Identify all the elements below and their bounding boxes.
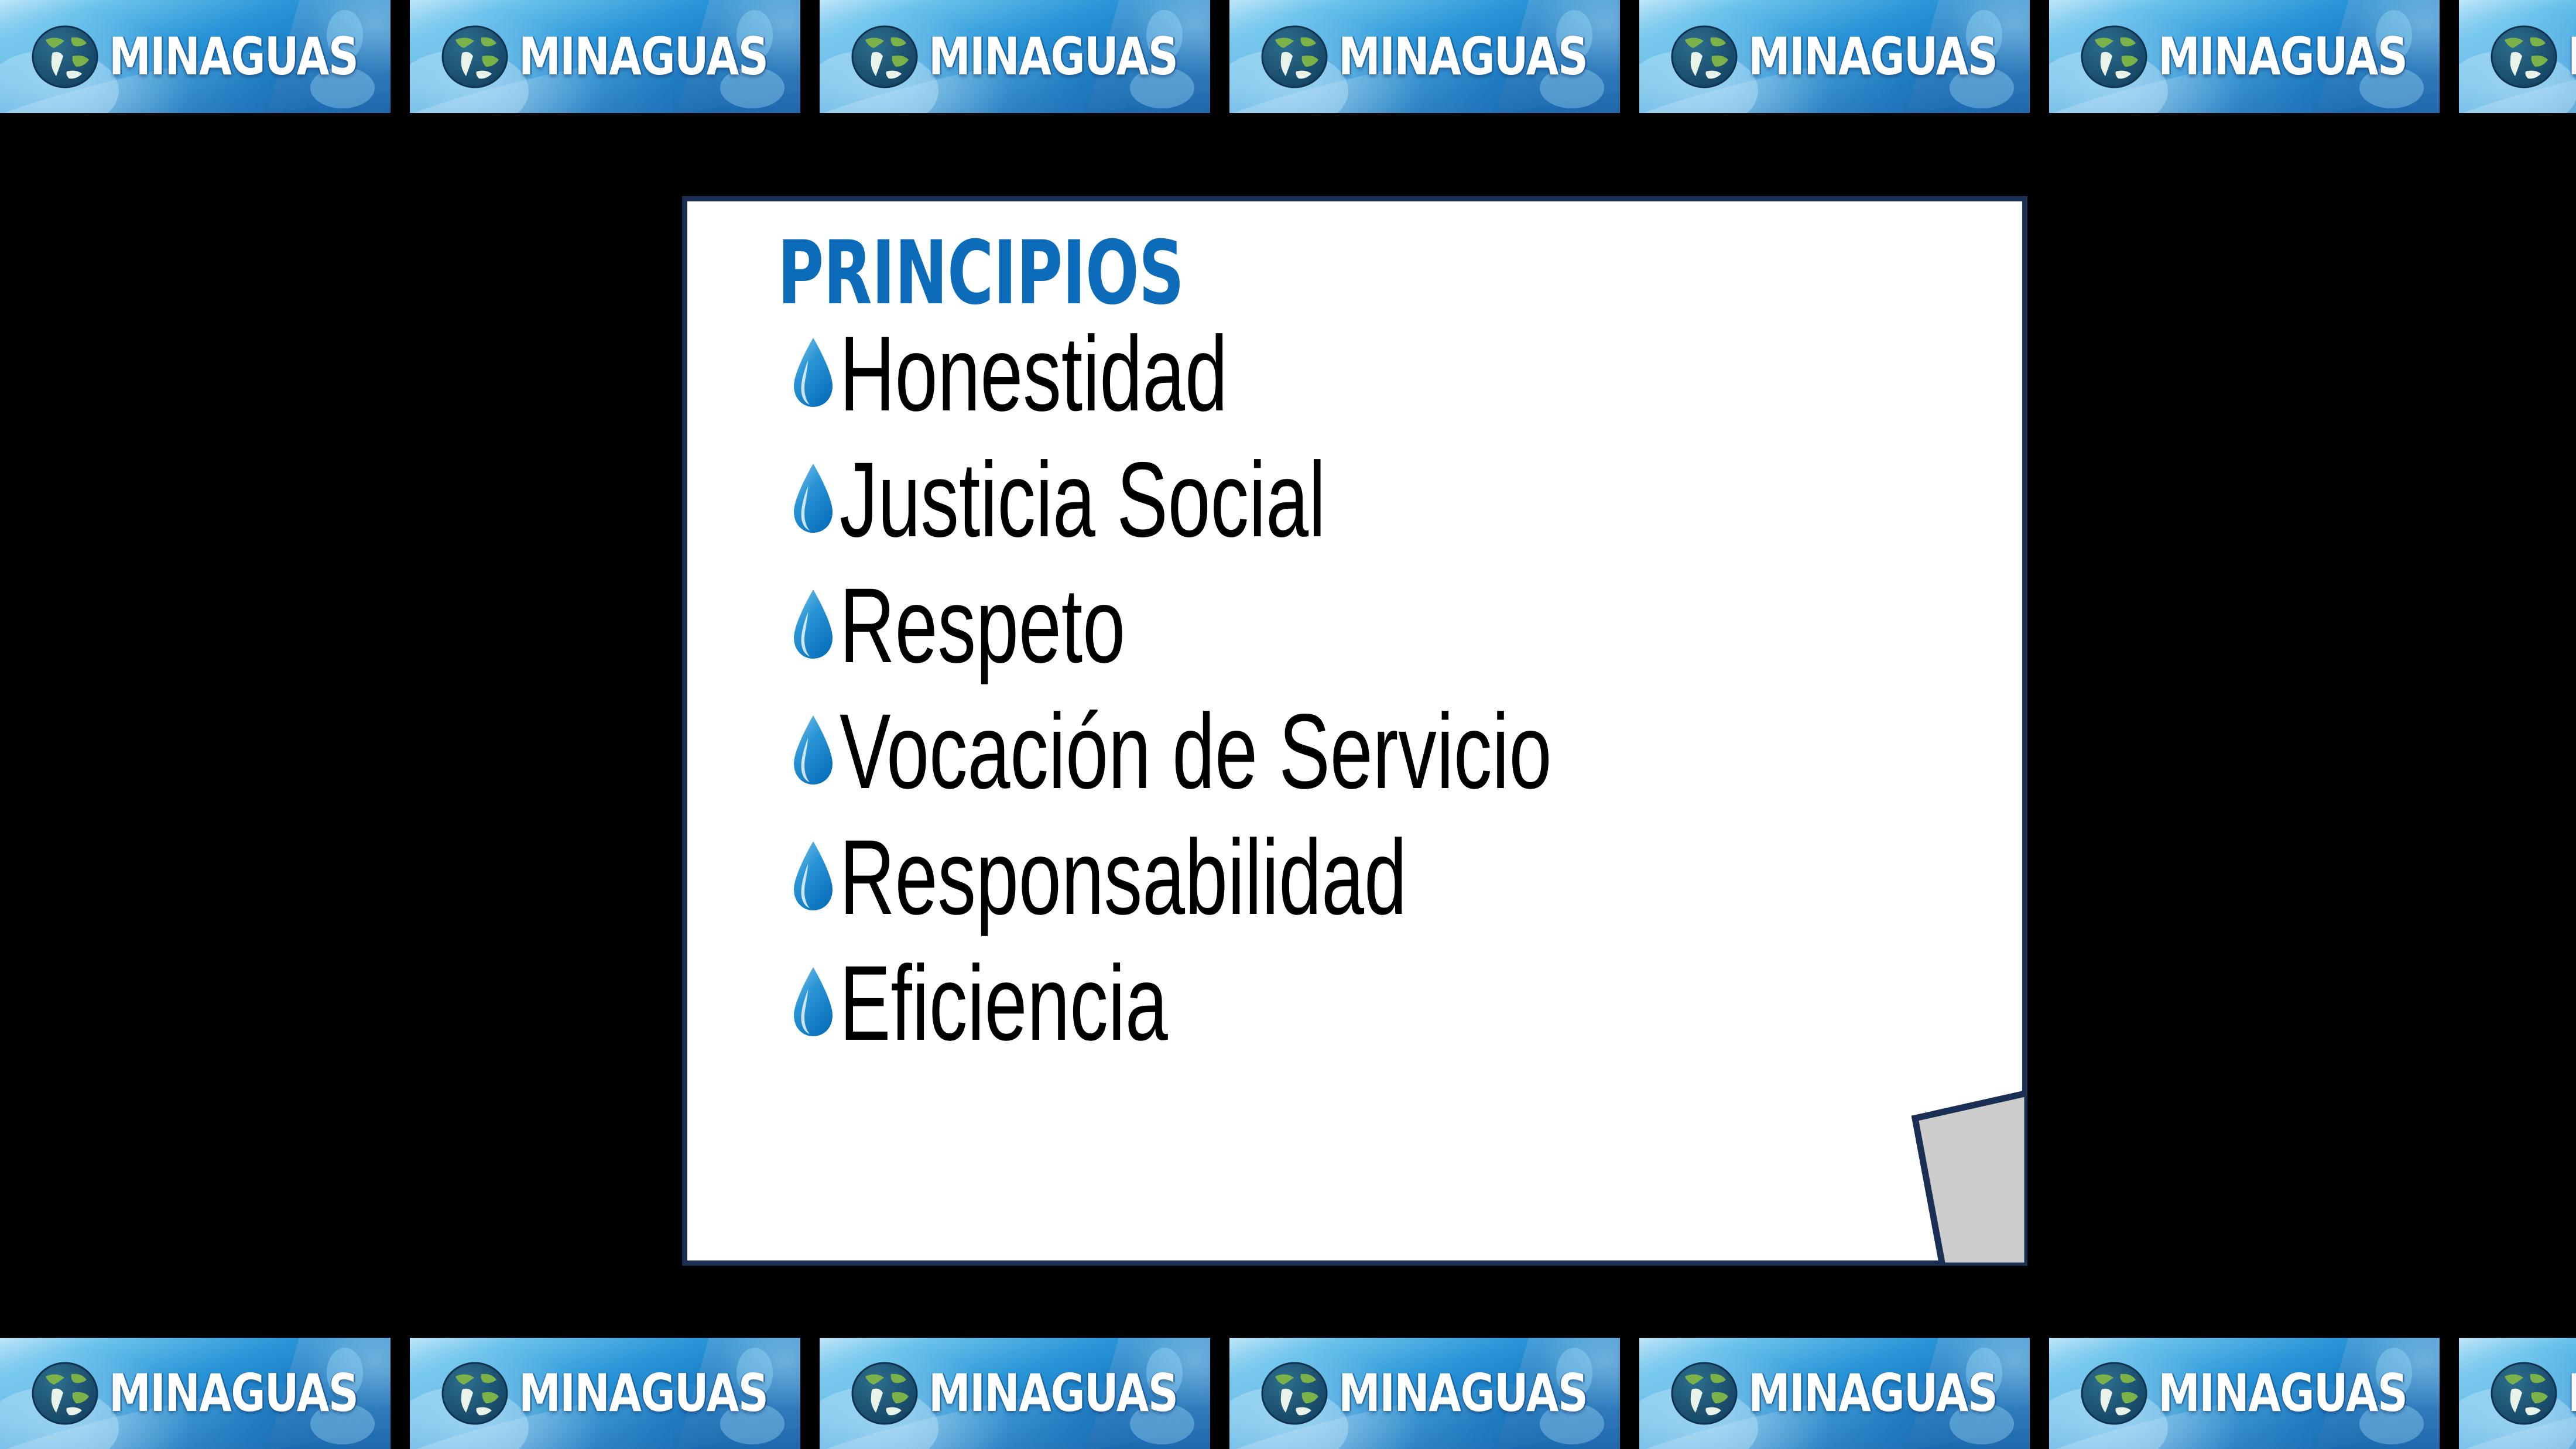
minaguas-logo: MINAGUAS — [2080, 22, 2440, 91]
logo-tile: MINAGUAS — [0, 1338, 390, 1449]
water-drop-icon — [790, 460, 836, 538]
globe-icon — [1260, 22, 1329, 91]
principios-card: PRINCIPIOS HonestidadJusticia SocialResp… — [682, 196, 2027, 1266]
minaguas-wordmark: MINAGUAS — [109, 1369, 358, 1418]
minaguas-logo: MINAGUAS — [850, 1359, 1210, 1428]
minaguas-logo: MINAGUAS — [1260, 1359, 1620, 1428]
minaguas-wordmark: MINAGUAS — [929, 1369, 1177, 1418]
globe-icon — [30, 1359, 100, 1428]
minaguas-logo: MINAGUAS — [1670, 22, 2030, 91]
logo-tile: MINAGUAS — [820, 0, 1210, 113]
globe-icon — [850, 22, 919, 91]
minaguas-logo: MINAGUAS — [30, 22, 390, 91]
list-item: Vocación de Servicio — [790, 688, 2022, 814]
minaguas-logo: MINAGUAS — [850, 22, 1210, 91]
minaguas-wordmark: MINAGUAS — [1338, 1369, 1587, 1418]
minaguas-logo: MINAGUAS — [1260, 22, 1620, 91]
minaguas-wordmark: MINAGUAS — [929, 32, 1177, 81]
logo-tile: MINAGUAS — [1229, 1338, 1620, 1449]
logo-tile: MINAGUAS — [2049, 1338, 2440, 1449]
logo-tile: MINAGUAS — [820, 1338, 1210, 1449]
minaguas-wordmark: MINAGUAS — [2158, 32, 2407, 81]
water-drop-icon — [790, 334, 836, 412]
minaguas-logo: MINAGUAS — [30, 1359, 390, 1428]
minaguas-logo: MINAGUAS — [2489, 1359, 2576, 1428]
list-item-label: Vocación de Servicio — [840, 698, 1551, 804]
globe-icon — [1670, 1359, 1739, 1428]
minaguas-logo: MINAGUAS — [440, 1359, 800, 1428]
minaguas-wordmark: MINAGUAS — [519, 32, 768, 81]
logo-tile: MINAGUAS — [1639, 0, 2030, 113]
list-item: Honestidad — [790, 310, 2022, 436]
globe-icon — [2489, 1359, 2558, 1428]
minaguas-wordmark: MINAGUAS — [1748, 32, 1997, 81]
globe-icon — [2080, 22, 2149, 91]
list-item-label: Respeto — [840, 572, 1125, 679]
list-item: Eficiencia — [790, 940, 2022, 1066]
bottom-logo-band: MINAGUASMINAGUASMINAGUASMINAGUASMINAGUAS… — [0, 1338, 2576, 1449]
logo-tile: MINAGUAS — [410, 1338, 800, 1449]
minaguas-wordmark: MINAGUAS — [109, 32, 358, 81]
globe-icon — [1260, 1359, 1329, 1428]
minaguas-wordmark: MINAGUAS — [2568, 32, 2576, 81]
minaguas-wordmark: MINAGUAS — [1338, 32, 1587, 81]
list-item-label: Honestidad — [840, 320, 1228, 427]
list-item-label: Eficiencia — [840, 950, 1168, 1056]
logo-tile: MINAGUAS — [1229, 0, 1620, 113]
page-title: PRINCIPIOS — [777, 229, 1674, 317]
logo-tile: MINAGUAS — [2049, 0, 2440, 113]
logo-tile: MINAGUAS — [410, 0, 800, 113]
principles-list: HonestidadJusticia SocialRespetoVocación… — [780, 310, 2022, 1066]
globe-icon — [30, 22, 100, 91]
globe-icon — [2080, 1359, 2149, 1428]
logo-tile: MINAGUAS — [2459, 0, 2576, 113]
water-drop-icon — [790, 586, 836, 664]
minaguas-logo: MINAGUAS — [2489, 22, 2576, 91]
globe-icon — [440, 1359, 509, 1428]
logo-tile: MINAGUAS — [1639, 1338, 2030, 1449]
list-item: Responsabilidad — [790, 814, 2022, 940]
list-item-label: Responsabilidad — [840, 824, 1407, 930]
globe-icon — [440, 22, 509, 91]
globe-icon — [1670, 22, 1739, 91]
minaguas-wordmark: MINAGUAS — [1748, 1369, 1997, 1418]
globe-icon — [850, 1359, 919, 1428]
card-content: PRINCIPIOS HonestidadJusticia SocialResp… — [687, 201, 2022, 1260]
minaguas-wordmark: MINAGUAS — [2158, 1369, 2407, 1418]
minaguas-wordmark: MINAGUAS — [519, 1369, 768, 1418]
list-item: Justicia Social — [790, 436, 2022, 562]
minaguas-logo: MINAGUAS — [440, 22, 800, 91]
water-drop-icon — [790, 838, 836, 916]
minaguas-logo: MINAGUAS — [2080, 1359, 2440, 1428]
slide-canvas: MINAGUASMINAGUASMINAGUASMINAGUASMINAGUAS… — [0, 0, 2576, 1449]
globe-icon — [2489, 22, 2558, 91]
water-drop-icon — [790, 964, 836, 1042]
logo-tile: MINAGUAS — [0, 0, 390, 113]
minaguas-logo: MINAGUAS — [1670, 1359, 2030, 1428]
logo-tile: MINAGUAS — [2459, 1338, 2576, 1449]
top-logo-band: MINAGUASMINAGUASMINAGUASMINAGUASMINAGUAS… — [0, 0, 2576, 113]
list-item-label: Justicia Social — [840, 446, 1325, 553]
list-item: Respeto — [790, 562, 2022, 688]
minaguas-wordmark: MINAGUAS — [2568, 1369, 2576, 1418]
water-drop-icon — [790, 712, 836, 790]
